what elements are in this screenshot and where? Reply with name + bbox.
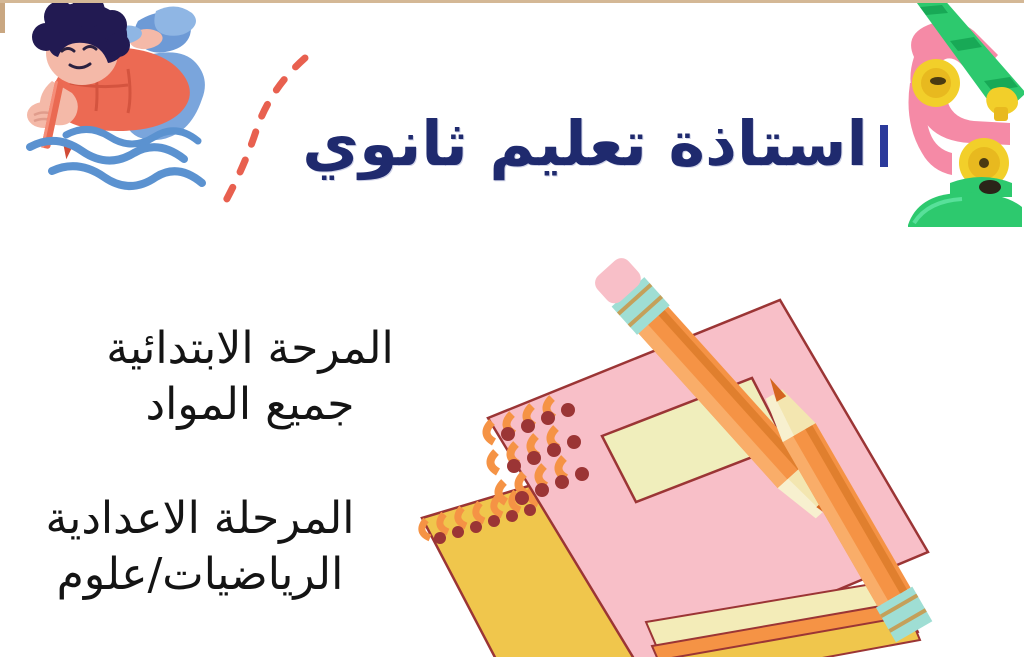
stage-name-primary: المرحة الابتدائية [20,321,480,377]
stage-subjects-primary: جميع المواد [20,377,480,433]
stage-subjects-middle: الرياضيات/علوم [0,547,400,603]
child-drawing-illustration [8,3,278,213]
stage-block-primary: المرحة الابتدائية جميع المواد [20,321,480,434]
poster-canvas: استاذة تعليم ثانوي المرحة الابتدائية جمي… [0,0,1024,657]
stage-name-middle: المرحلة الاعدادية [0,491,400,547]
notebooks-and-pencils-illustration [370,218,1024,657]
left-edge-accent [0,3,5,33]
page-title: استاذة تعليم ثانوي [260,111,910,176]
stage-block-middle: المرحلة الاعدادية الرياضيات/علوم [0,491,400,604]
